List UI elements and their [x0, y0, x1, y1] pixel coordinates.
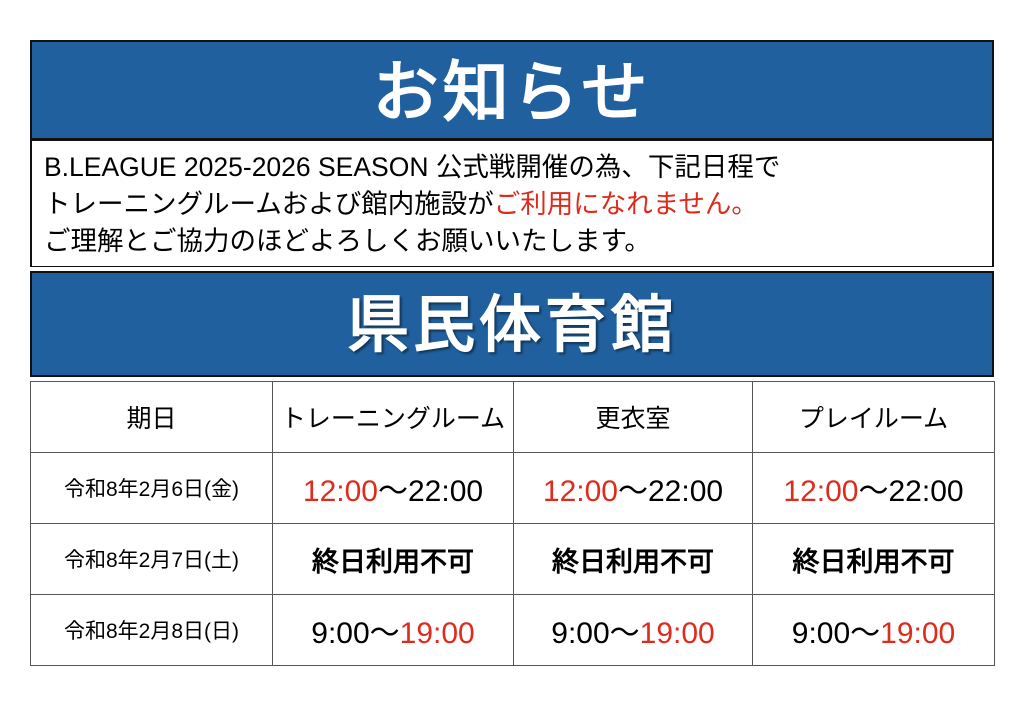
cell-value-text: 終日利用不可: [793, 547, 955, 577]
table-header-row: 期日 トレーニングルーム 更衣室 プレイルーム: [31, 382, 995, 453]
column-header-locker-room: 更衣室: [514, 382, 753, 453]
cell-play-room: 終日利用不可: [753, 524, 995, 595]
cell-play-room: 9:00〜19:00: [753, 595, 995, 666]
cell-value-separator: 〜: [850, 617, 880, 650]
cell-value-end: 19:00: [400, 617, 475, 650]
column-header-play-room: プレイルーム: [753, 382, 995, 453]
cell-locker-room: 12:00〜22:00: [514, 453, 753, 524]
cell-locker-room: 9:00〜19:00: [514, 595, 753, 666]
cell-training-room: 9:00〜19:00: [273, 595, 514, 666]
cell-value-separator: 〜: [610, 617, 640, 650]
cell-value-start: 9:00: [792, 617, 850, 650]
notice-line-2-black: トレーニングルームおよび館内施設が: [44, 189, 494, 219]
venue-name: 県民体育館: [347, 291, 677, 360]
cell-date: 令和8年2月8日(日): [31, 595, 273, 666]
cell-value-start: 12:00: [543, 475, 618, 508]
notice-header-banner: お知らせ: [30, 40, 994, 140]
table-row: 令和8年2月7日(土) 終日利用不可 終日利用不可 終日利用不可: [31, 524, 995, 595]
column-header-training-room: トレーニングルーム: [273, 382, 514, 453]
cell-play-room: 12:00〜22:00: [753, 453, 995, 524]
cell-value-end: 22:00: [889, 475, 964, 508]
cell-value-text: 終日利用不可: [552, 547, 714, 577]
notice-line-2: トレーニングルームおよび館内施設がご利用になれません。: [44, 186, 992, 223]
cell-locker-room: 終日利用不可: [514, 524, 753, 595]
table-row: 令和8年2月6日(金) 12:00〜22:00 12:00〜22:00 12:0…: [31, 453, 995, 524]
cell-value-separator: 〜: [618, 475, 648, 508]
schedule-table: 期日 トレーニングルーム 更衣室 プレイルーム 令和8年2月6日(金) 12:0…: [30, 381, 995, 666]
cell-value-end: 22:00: [648, 475, 723, 508]
notice-line-3: ご理解とご協力のほどよろしくお願いいたします。: [44, 223, 992, 260]
cell-value-start: 12:00: [783, 475, 858, 508]
cell-value-separator: 〜: [370, 617, 400, 650]
cell-value-separator: 〜: [859, 475, 889, 508]
cell-value-text: 終日利用不可: [312, 547, 474, 577]
notice-body: B.LEAGUE 2025-2026 SEASON 公式戦開催の為、下記日程で …: [30, 140, 994, 267]
cell-date: 令和8年2月7日(土): [31, 524, 273, 595]
notice-line-2-emphasis: ご利用になれません。: [494, 189, 758, 219]
cell-training-room: 12:00〜22:00: [273, 453, 514, 524]
cell-value-separator: 〜: [378, 475, 408, 508]
cell-date: 令和8年2月6日(金): [31, 453, 273, 524]
cell-value-start: 12:00: [303, 475, 378, 508]
page-title: お知らせ: [373, 55, 652, 129]
venue-banner: 県民体育館: [30, 271, 994, 377]
cell-value-end: 19:00: [640, 617, 715, 650]
cell-value-start: 9:00: [311, 617, 369, 650]
cell-value-end: 19:00: [880, 617, 955, 650]
cell-value-end: 22:00: [408, 475, 483, 508]
column-header-date: 期日: [31, 382, 273, 453]
cell-value-start: 9:00: [551, 617, 609, 650]
notice-line-1: B.LEAGUE 2025-2026 SEASON 公式戦開催の為、下記日程で: [44, 149, 992, 186]
table-row: 令和8年2月8日(日) 9:00〜19:00 9:00〜19:00 9:00〜1…: [31, 595, 995, 666]
cell-training-room: 終日利用不可: [273, 524, 514, 595]
notice-poster: お知らせ B.LEAGUE 2025-2026 SEASON 公式戦開催の為、下…: [30, 40, 994, 666]
